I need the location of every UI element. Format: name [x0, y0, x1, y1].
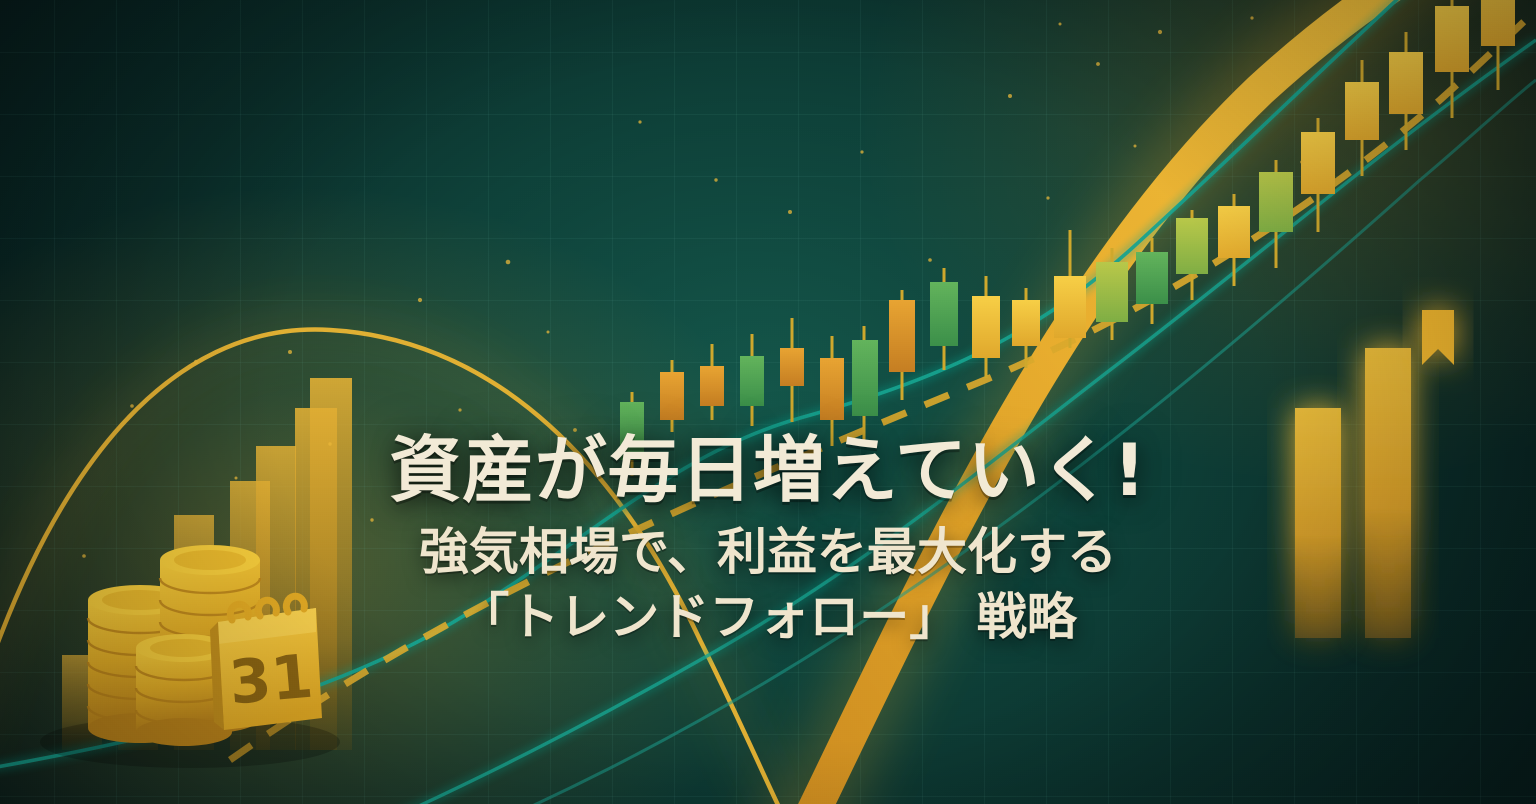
background-noise-texture	[0, 0, 1536, 804]
hero-banner: 31 資産が毎日増えていく! 強気相場で、利益を最大化する 「トレンドフォロー」…	[0, 0, 1536, 804]
